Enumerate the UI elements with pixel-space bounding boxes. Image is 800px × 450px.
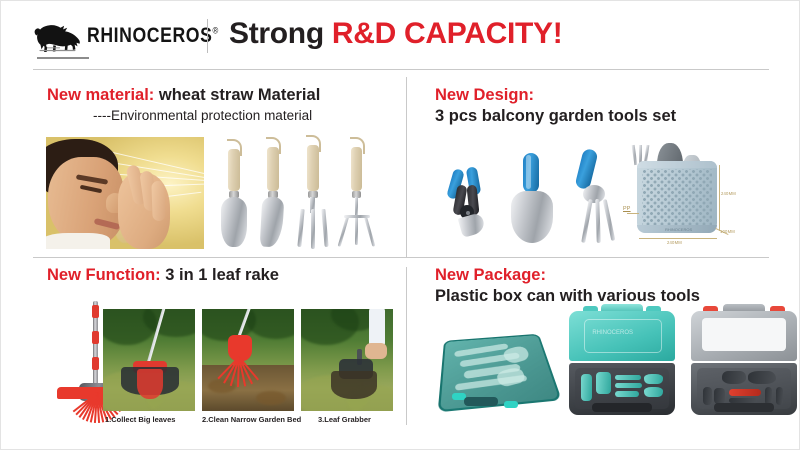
leaf-grabber-photo — [301, 309, 393, 411]
dimension-label-height: 240MM — [721, 191, 736, 196]
dimension-line-height — [719, 165, 720, 231]
quadrant-new-function: New Function: 3 in 1 leaf rake — [47, 265, 399, 285]
header: RHINOCEROS® Strong R&D CAPACITY! — [1, 1, 800, 69]
new-design-heading-rest: 3 pcs balcony garden tools set — [435, 106, 775, 126]
new-design-heading-accent: New Design: — [435, 86, 534, 104]
open-teal-tool-case: RHINOCEROS — [569, 311, 675, 415]
new-function-heading-accent: New Function: — [47, 266, 161, 284]
brand-wordmark-text: RHINOCEROS — [87, 23, 212, 47]
page-title-prefix: Strong — [229, 17, 332, 50]
caption-leaf-grabber: 3.Leaf Grabber — [318, 415, 371, 424]
new-package-heading-accent-line: New Package: — [435, 265, 775, 285]
brand-wordmark: RHINOCEROS® — [87, 23, 219, 48]
new-function-heading: New Function: 3 in 1 leaf rake — [47, 265, 399, 285]
new-material-heading: New material: wheat straw Material — [47, 85, 399, 105]
brand-logo[interactable]: RHINOCEROS® — [33, 17, 201, 53]
caddy-group: RHINOCEROS 240MM 240MM 100MM PP — [623, 143, 733, 251]
flat-teal-tool-case — [438, 319, 550, 415]
divider-bottom-vertical — [406, 267, 407, 425]
open-grey-tool-case — [691, 311, 797, 415]
trowel-blue-handle — [509, 153, 557, 243]
trowel-wheat-straw-handle — [219, 139, 253, 247]
new-package-heading-accent: New Package: — [435, 266, 546, 284]
caption-clean-narrow-garden-bed: 2.Clean Narrow Garden Bed — [202, 415, 301, 424]
new-material-subtitle: ----Environmental protection material — [93, 108, 399, 123]
dimension-label-depth: 100MM — [720, 229, 735, 234]
new-design-heading-accent-line: New Design: — [435, 85, 775, 105]
divider-middle-horizontal — [33, 257, 769, 258]
pruner-blue-handle — [448, 167, 492, 237]
caption-collect-big-leaves: 1.Collect Big leaves — [105, 415, 175, 424]
header-divider — [207, 19, 208, 53]
new-material-heading-rest: wheat straw Material — [154, 86, 320, 104]
dimension-label-material: PP — [623, 206, 631, 212]
divider-top-vertical — [406, 77, 407, 257]
quadrant-new-package: New Package: Plastic box can with variou… — [435, 265, 775, 307]
page-title-accent: R&D CAPACITY! — [332, 17, 563, 50]
dimension-label-width: 240MM — [667, 240, 682, 245]
person-smelling-wheat-photo — [46, 137, 204, 249]
quadrant-new-material: New material: wheat straw Material ----E… — [47, 85, 399, 123]
dimension-line-width — [639, 238, 717, 239]
logo-underline — [37, 57, 89, 59]
cultivator-blue-handle — [575, 149, 629, 243]
slide-canvas: RHINOCEROS® Strong R&D CAPACITY! New mat… — [0, 0, 800, 450]
dimension-leader-material — [627, 213, 639, 214]
page-title: Strong R&D CAPACITY! — [229, 17, 562, 51]
registered-trademark-symbol: ® — [212, 25, 218, 36]
hand-fork-wheat-straw-handle — [296, 135, 332, 247]
quadrant-new-design: New Design: 3 pcs balcony garden tools s… — [435, 85, 775, 127]
transplanter-wheat-straw-handle — [257, 137, 291, 247]
collect-big-leaves-photo — [103, 309, 195, 411]
cultivator-wheat-straw-handle — [338, 137, 376, 247]
divider-header-bottom — [33, 69, 769, 70]
clean-narrow-garden-bed-photo — [202, 309, 294, 411]
new-function-heading-rest: 3 in 1 leaf rake — [161, 266, 279, 284]
perforated-plastic-caddy: RHINOCEROS — [637, 161, 717, 233]
new-material-heading-accent: New material: — [47, 86, 154, 104]
rhinoceros-logo-icon — [33, 17, 85, 53]
